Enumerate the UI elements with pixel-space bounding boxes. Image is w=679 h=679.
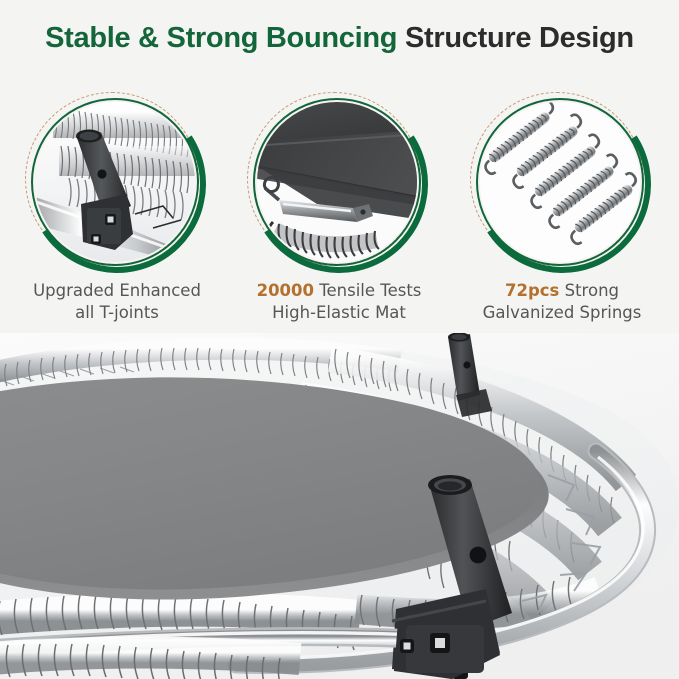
caption-line-1: Strong [559, 281, 619, 300]
page-title: Stable & Strong Bouncing Structure Desig… [0, 22, 679, 55]
product-infographic: Stable & Strong Bouncing Structure Desig… [0, 0, 679, 679]
feature-caption-galvanized-springs: 72pcs Strong Galvanized Springs [449, 280, 675, 324]
feature-circle-t-joints [31, 98, 203, 270]
caption-line-2: Galvanized Springs [449, 302, 675, 324]
feature-row: Upgraded Enhanced all T-joints [0, 98, 679, 333]
feature-t-joints: Upgraded Enhanced all T-joints [4, 98, 230, 333]
caption-line-1: Upgraded Enhanced [33, 281, 201, 300]
feature-galvanized-springs: 72pcs Strong Galvanized Springs [449, 98, 675, 333]
caption-line-2: High-Elastic Mat [226, 302, 452, 324]
page-title-dark: Structure Design [397, 22, 634, 54]
feature-circle-elastic-mat [253, 98, 425, 270]
page-title-green: Stable & Strong Bouncing [45, 22, 397, 54]
caption-line-2: all T-joints [4, 302, 230, 324]
trampoline-frame-springs-photo [0, 333, 679, 679]
feature-circle-galvanized-springs [476, 98, 648, 270]
caption-line-1: Tensile Tests [314, 281, 421, 300]
feature-caption-elastic-mat: 20000 Tensile Tests High-Elastic Mat [226, 280, 452, 324]
green-accent-arc [11, 78, 222, 289]
feature-elastic-mat: 20000 Tensile Tests High-Elastic Mat [226, 98, 452, 333]
feature-caption-t-joints: Upgraded Enhanced all T-joints [4, 280, 230, 324]
green-accent-arc [456, 78, 667, 289]
caption-highlight: 72pcs [505, 281, 559, 300]
caption-highlight: 20000 [257, 281, 314, 300]
green-accent-arc [233, 78, 444, 289]
